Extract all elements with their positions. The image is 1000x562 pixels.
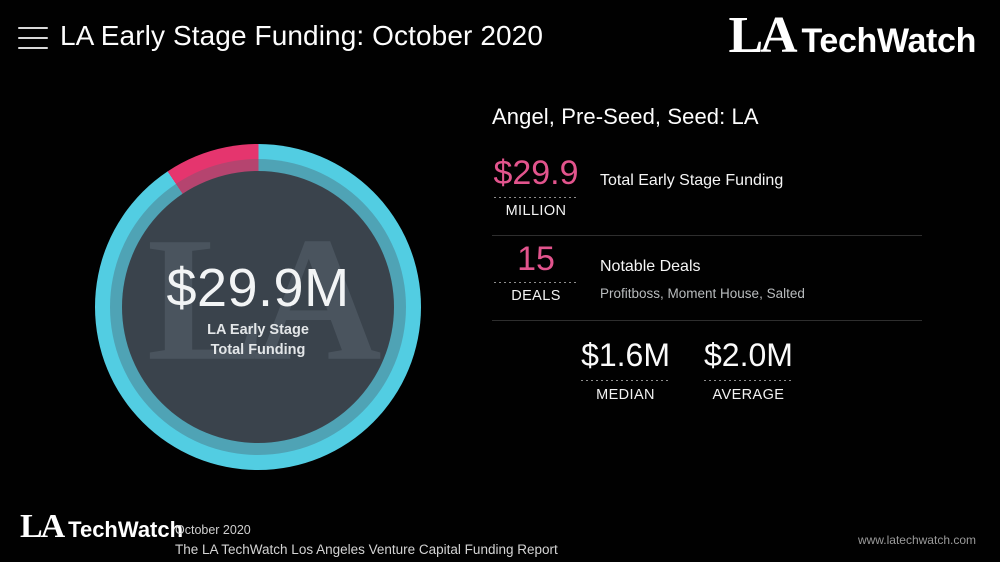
donut-center-content: $29.9M LA Early Stage Total Funding xyxy=(166,260,349,361)
average-label: AVERAGE xyxy=(704,387,793,403)
hamburger-line xyxy=(18,27,48,29)
dotted-rule xyxy=(581,380,670,381)
stat-row-deals: 15 DEALS Notable Deals Profitboss, Momen… xyxy=(492,242,922,305)
stat-row-funding: $29.9 MILLION Total Early Stage Funding xyxy=(492,156,922,219)
stats-panel: Angel, Pre-Seed, Seed: LA $29.9 MILLION … xyxy=(492,104,922,403)
logo-word-techwatch: TechWatch xyxy=(68,519,183,541)
average-value: $2.0M xyxy=(704,339,793,373)
panel-divider-top xyxy=(492,235,922,236)
page-footer: LA TechWatch October 2020 The LA TechWat… xyxy=(0,502,1000,562)
logo-word-techwatch: TechWatch xyxy=(801,24,976,58)
funding-body: Total Early Stage Funding xyxy=(580,156,783,190)
deals-body: Notable Deals Profitboss, Moment House, … xyxy=(580,242,805,301)
panel-title: Angel, Pre-Seed, Seed: LA xyxy=(492,104,922,130)
hamburger-line xyxy=(18,47,48,49)
page-title: LA Early Stage Funding: October 2020 xyxy=(60,20,543,52)
footer-text: October 2020 The LA TechWatch Los Angele… xyxy=(175,521,558,560)
median-value: $1.6M xyxy=(581,339,670,373)
median-metric: $1.6M MEDIAN xyxy=(581,339,670,403)
funding-metric: $29.9 MILLION xyxy=(492,156,580,219)
donut-caption-line2: Total Funding xyxy=(166,340,349,360)
dotted-rule xyxy=(494,282,578,283)
notable-deals-list: Profitboss, Moment House, Salted xyxy=(600,286,805,301)
deals-label: Notable Deals xyxy=(600,258,805,276)
median-average-row: $1.6M MEDIAN $2.0M AVERAGE xyxy=(492,339,922,403)
deals-number: 15 xyxy=(492,242,580,277)
donut-chart: LA $29.9M LA Early Stage Total Funding xyxy=(95,144,421,470)
logo-mark-la: LA xyxy=(20,512,63,541)
median-label: MEDIAN xyxy=(581,387,670,403)
funding-label: Total Early Stage Funding xyxy=(600,172,783,190)
dotted-rule xyxy=(494,197,578,198)
panel-divider-bottom xyxy=(492,320,922,321)
footer-description: The LA TechWatch Los Angeles Venture Cap… xyxy=(175,540,558,560)
footer-url[interactable]: www.latechwatch.com xyxy=(858,533,976,547)
donut-caption-line1: LA Early Stage xyxy=(166,320,349,340)
footer-date: October 2020 xyxy=(175,521,558,540)
donut-hole: LA $29.9M LA Early Stage Total Funding xyxy=(122,171,394,443)
funding-number: $29.9 xyxy=(492,156,580,191)
dotted-rule xyxy=(704,380,793,381)
brand-logo-header: LA TechWatch xyxy=(728,14,976,59)
deals-unit: DEALS xyxy=(492,288,580,304)
donut-caption: LA Early Stage Total Funding xyxy=(166,320,349,360)
brand-logo-footer: LA TechWatch xyxy=(20,512,183,541)
donut-total-value: $29.9M xyxy=(166,260,349,317)
average-metric: $2.0M AVERAGE xyxy=(704,339,793,403)
deals-metric: 15 DEALS xyxy=(492,242,580,305)
hamburger-icon[interactable] xyxy=(18,27,48,49)
logo-mark-la: LA xyxy=(728,14,794,59)
funding-unit: MILLION xyxy=(492,203,580,219)
hamburger-line xyxy=(18,37,48,39)
page-header: LA Early Stage Funding: October 2020 LA … xyxy=(0,0,1000,88)
